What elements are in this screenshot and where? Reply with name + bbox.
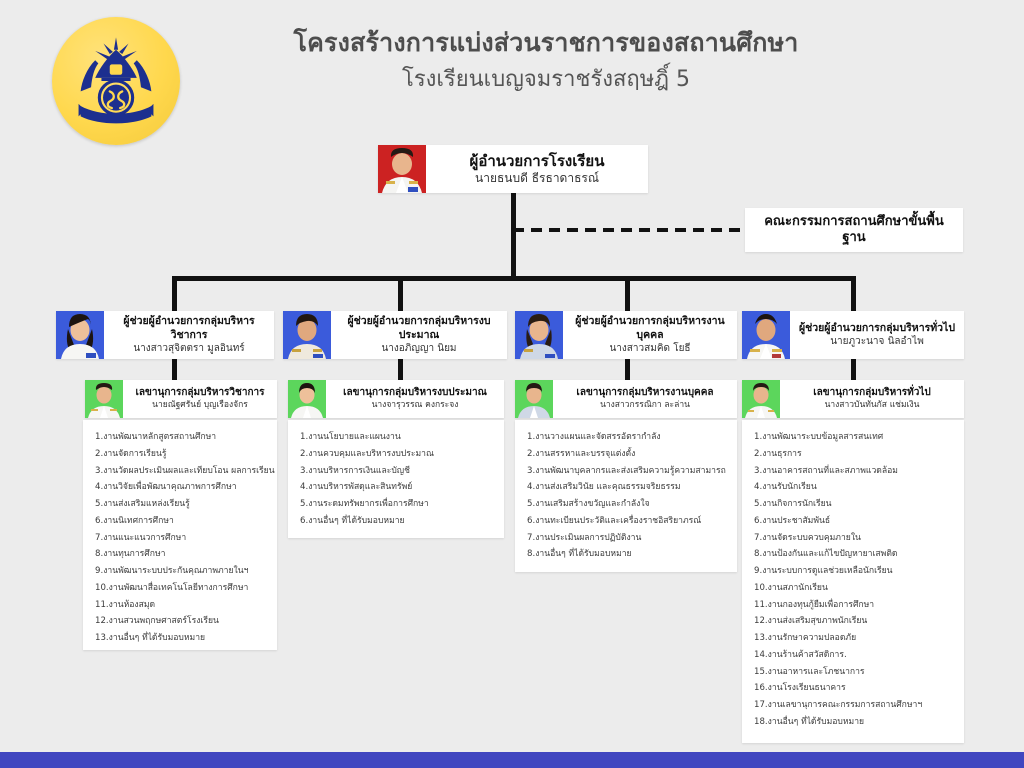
secretary-photo-general [742,380,780,418]
secretary-role: เลขานุการกลุ่มบริหารงานบุคคล [576,387,713,400]
deputy-card-academic[interactable]: ผู้ช่วยผู้อำนวยการกลุ่มบริหารวิชาการ นาง… [56,311,274,359]
connector-drop-2 [398,276,403,312]
deputy-name: นางสาวสุจิตตรา มูลอินทร์ [133,342,244,355]
task-items-general: 1.งานพัฒนาระบบข้อมูลสารสนเทศ2.งานธุรการ3… [754,429,954,731]
task-item: 2.งานควบคุมและบริหารงบประมาณ [300,446,494,463]
task-item: 6.งานทะเบียนประวัติและเครื่องราชอิสริยาภ… [527,513,727,530]
task-item: 15.งานอาหารและโภชนาการ [754,664,954,681]
secretary-text-academic: เลขานุการกลุ่มบริหารวิชาการ นายณัฐศรันย์… [123,380,277,418]
task-item: 13.งานรักษาความปลอดภัย [754,630,954,647]
connector-deputy-secretary-1 [172,359,177,380]
task-item: 7.งานจัดระบบควบคุมภายใน [754,530,954,547]
director-role: ผู้อำนวยการโรงเรียน [470,152,605,171]
task-item: 11.งานห้องสมุด [95,597,267,614]
task-item: 8.งานอื่นๆ ที่ได้รับมอบหมาย [527,546,727,563]
director-name: นายธนบดี ธีรธาดาธรณ์ [475,171,599,187]
task-item: 2.งานธุรการ [754,446,954,463]
task-item: 2.งานจัดการเรียนรู้ [95,446,267,463]
connector-drop-1 [172,276,177,312]
school-board-text: คณะกรรมการสถานศึกษาขั้นพื้นฐาน [745,212,963,249]
school-board-role: คณะกรรมการสถานศึกษาขั้นพื้นฐาน [753,214,955,247]
secretary-photo-personnel [515,380,553,418]
connector-board-dashed [513,228,747,232]
secretary-card-general[interactable]: เลขานุการกลุ่มบริหารทั่วไป นางสาวบันทันก… [742,380,964,418]
secretary-role: เลขานุการกลุ่มบริหารวิชาการ [135,387,264,400]
task-item: 14.งานร้านค้าสวัสดิการ. [754,647,954,664]
header-titles: โครงสร้างการแบ่งส่วนราชการของสถานศึกษา โ… [196,26,896,96]
task-item: 11.งานกองทุนกู้ยืมเพื่อการศึกษา [754,597,954,614]
connector-drop-3 [625,276,630,312]
task-item: 1.งานพัฒนาหลักสูตรสถานศึกษา [95,429,267,446]
task-item: 6.งานอื่นๆ ที่ได้รับมอบหมาย [300,513,494,530]
secretary-role: เลขานุการกลุ่มบริหารงบประมาณ [343,387,487,400]
task-items-academic: 1.งานพัฒนาหลักสูตรสถานศึกษา2.งานจัดการเร… [95,429,267,647]
secretary-card-personnel[interactable]: เลขานุการกลุ่มบริหารงานบุคคล นางสาวกรรณิ… [515,380,737,418]
task-item: 3.งานพัฒนาบุคลากรและส่งเสริมความรู้ความส… [527,463,727,480]
secretary-role: เลขานุการกลุ่มบริหารทั่วไป [813,387,931,400]
task-item: 9.งานระบบการดูแลช่วยเหลือนักเรียน [754,563,954,580]
secretary-text-general: เลขานุการกลุ่มบริหารทั่วไป นางสาวบันทันก… [780,380,964,418]
deputy-photo-budget [283,311,331,359]
task-item: 5.งานส่งเสริมแหล่งเรียนรู้ [95,496,267,513]
task-item: 7.งานประเมินผลการปฏิบัติงาน [527,530,727,547]
task-item: 13.งานอื่นๆ ที่ได้รับมอบหมาย [95,630,267,647]
task-item: 8.งานทุนการศึกษา [95,546,267,563]
task-item: 12.งานส่งเสริมสุขภาพนักเรียน [754,613,954,630]
task-item: 3.งานอาคารสถานที่และสภาพแวดล้อม [754,463,954,480]
school-emblem-logo [52,17,180,145]
task-item: 7.งานแนะแนวการศึกษา [95,530,267,547]
task-list-budget: 1.งานนโยบายและแผนงาน2.งานควบคุมและบริหาร… [288,420,504,538]
task-list-general: 1.งานพัฒนาระบบข้อมูลสารสนเทศ2.งานธุรการ3… [742,420,964,743]
task-item: 5.งานระดมทรัพยากรเพื่อการศึกษา [300,496,494,513]
task-item: 4.งานรับนักเรียน [754,479,954,496]
director-text: ผู้อำนวยการโรงเรียน นายธนบดี ธีรธาดาธรณ์ [426,145,648,193]
task-item: 10.งานพัฒนาสื่อเทคโนโลยีทางการศึกษา [95,580,267,597]
secretary-name: นางสาวกรรณิกา ละล่าน [600,400,690,411]
task-list-personnel: 1.งานวางแผนและจัดสรรอัตรากำลัง2.งานสรรหา… [515,420,737,572]
task-item: 17.งานเลขานุการคณะกรรมการสถานศึกษาฯ [754,697,954,714]
deputy-photo-general [742,311,790,359]
secretary-card-budget[interactable]: เลขานุการกลุ่มบริหารงบประมาณ นางจารุวรรณ… [288,380,504,418]
task-item: 5.งานกิจการนักเรียน [754,496,954,513]
connector-drop-4 [851,276,856,312]
connector-deputy-secretary-4 [851,359,856,380]
secretary-name: นางจารุวรรณ คงกระจง [372,400,459,411]
page-subtitle: โรงเรียนเบญจมราชรังสฤษฎิ์ 5 [196,64,896,96]
connector-horizontal-bus [172,276,856,281]
bottom-accent-bar [0,752,1024,768]
secretary-photo-budget [288,380,326,418]
task-item: 6.งานนิเทศการศึกษา [95,513,267,530]
deputy-role: ผู้ช่วยผู้อำนวยการกลุ่มบริหารทั่วไป [799,322,955,335]
task-item: 8.งานป้องกันและแก้ไขปัญหายาเสพติด [754,546,954,563]
secretary-text-budget: เลขานุการกลุ่มบริหารงบประมาณ นางจารุวรรณ… [326,380,504,418]
secretary-photo-academic [85,380,123,418]
deputy-card-budget[interactable]: ผู้ช่วยผู้อำนวยการกลุ่มบริหารงบประมาณ นา… [283,311,507,359]
secretary-name: นางสาวบันทันกัส แช่มเงิน [825,400,920,411]
deputy-role: ผู้ช่วยผู้อำนวยการกลุ่มบริหารวิชาการ [112,315,266,341]
task-list-academic: 1.งานพัฒนาหลักสูตรสถานศึกษา2.งานจัดการเร… [83,420,277,650]
connector-director-vertical [511,193,516,280]
task-item: 4.งานบริหารพัสดุและสินทรัพย์ [300,479,494,496]
deputy-text-personnel: ผู้ช่วยผู้อำนวยการกลุ่มบริหารงานบุคคล นา… [563,311,737,359]
task-item: 12.งานสวนพฤกษศาสตร์โรงเรียน [95,613,267,630]
task-item: 9.งานพัฒนาระบบประกันคุณภาพภายในฯ [95,563,267,580]
task-item: 4.งานส่งเสริมวินัย และคุณธรรมจริยธรรม [527,479,727,496]
deputy-role: ผู้ช่วยผู้อำนวยการกลุ่มบริหารงบประมาณ [339,315,499,341]
task-item: 1.งานพัฒนาระบบข้อมูลสารสนเทศ [754,429,954,446]
deputy-text-budget: ผู้ช่วยผู้อำนวยการกลุ่มบริหารงบประมาณ นา… [331,311,507,359]
task-item: 10.งานสภานักเรียน [754,580,954,597]
task-item: 16.งานโรงเรียนธนาคาร [754,680,954,697]
director-photo [378,145,426,193]
secretary-text-personnel: เลขานุการกลุ่มบริหารงานบุคคล นางสาวกรรณิ… [553,380,737,418]
school-board-card[interactable]: คณะกรรมการสถานศึกษาขั้นพื้นฐาน [745,208,963,252]
secretary-name: นายณัฐศรันย์ บุญเรืองจักร [152,400,248,411]
task-items-budget: 1.งานนโยบายและแผนงาน2.งานควบคุมและบริหาร… [300,429,494,530]
deputy-text-academic: ผู้ช่วยผู้อำนวยการกลุ่มบริหารวิชาการ นาง… [104,311,274,359]
deputy-photo-personnel [515,311,563,359]
deputy-name: นายภูวะนาจ นิลอำไพ [830,335,924,348]
task-item: 4.งานวิจัยเพื่อพัฒนาคุณภาพการศึกษา [95,479,267,496]
task-item: 1.งานนโยบายและแผนงาน [300,429,494,446]
task-item: 6.งานประชาสัมพันธ์ [754,513,954,530]
task-item: 3.งานบริหารการเงินและบัญชี [300,463,494,480]
task-item: 18.งานอื่นๆ ที่ได้รับมอบหมาย [754,714,954,731]
page-title: โครงสร้างการแบ่งส่วนราชการของสถานศึกษา [196,26,896,60]
task-item: 1.งานวางแผนและจัดสรรอัตรากำลัง [527,429,727,446]
deputy-name: นางสาวสมคิด โยธี [609,342,690,355]
deputy-role: ผู้ช่วยผู้อำนวยการกลุ่มบริหารงานบุคคล [571,315,729,341]
director-card[interactable]: ผู้อำนวยการโรงเรียน นายธนบดี ธีรธาดาธรณ์ [378,145,648,193]
task-item: 2.งานสรรหาและบรรจุแต่งตั้ง [527,446,727,463]
deputy-text-general: ผู้ช่วยผู้อำนวยการกลุ่มบริหารทั่วไป นายภ… [790,311,964,359]
task-item: 3.งานวัดผลประเมินผลและเทียบโอน ผลการเรีย… [95,463,267,480]
task-item: 5.งานเสริมสร้างขวัญและกำลังใจ [527,496,727,513]
connector-deputy-secretary-2 [398,359,403,380]
connector-deputy-secretary-3 [625,359,630,380]
deputy-photo-academic [56,311,104,359]
task-items-personnel: 1.งานวางแผนและจัดสรรอัตรากำลัง2.งานสรรหา… [527,429,727,563]
deputy-card-personnel[interactable]: ผู้ช่วยผู้อำนวยการกลุ่มบริหารงานบุคคล นา… [515,311,737,359]
deputy-name: นางอภิญญา นิยม [381,342,456,355]
deputy-card-general[interactable]: ผู้ช่วยผู้อำนวยการกลุ่มบริหารทั่วไป นายภ… [742,311,964,359]
secretary-card-academic[interactable]: เลขานุการกลุ่มบริหารวิชาการ นายณัฐศรันย์… [85,380,277,418]
